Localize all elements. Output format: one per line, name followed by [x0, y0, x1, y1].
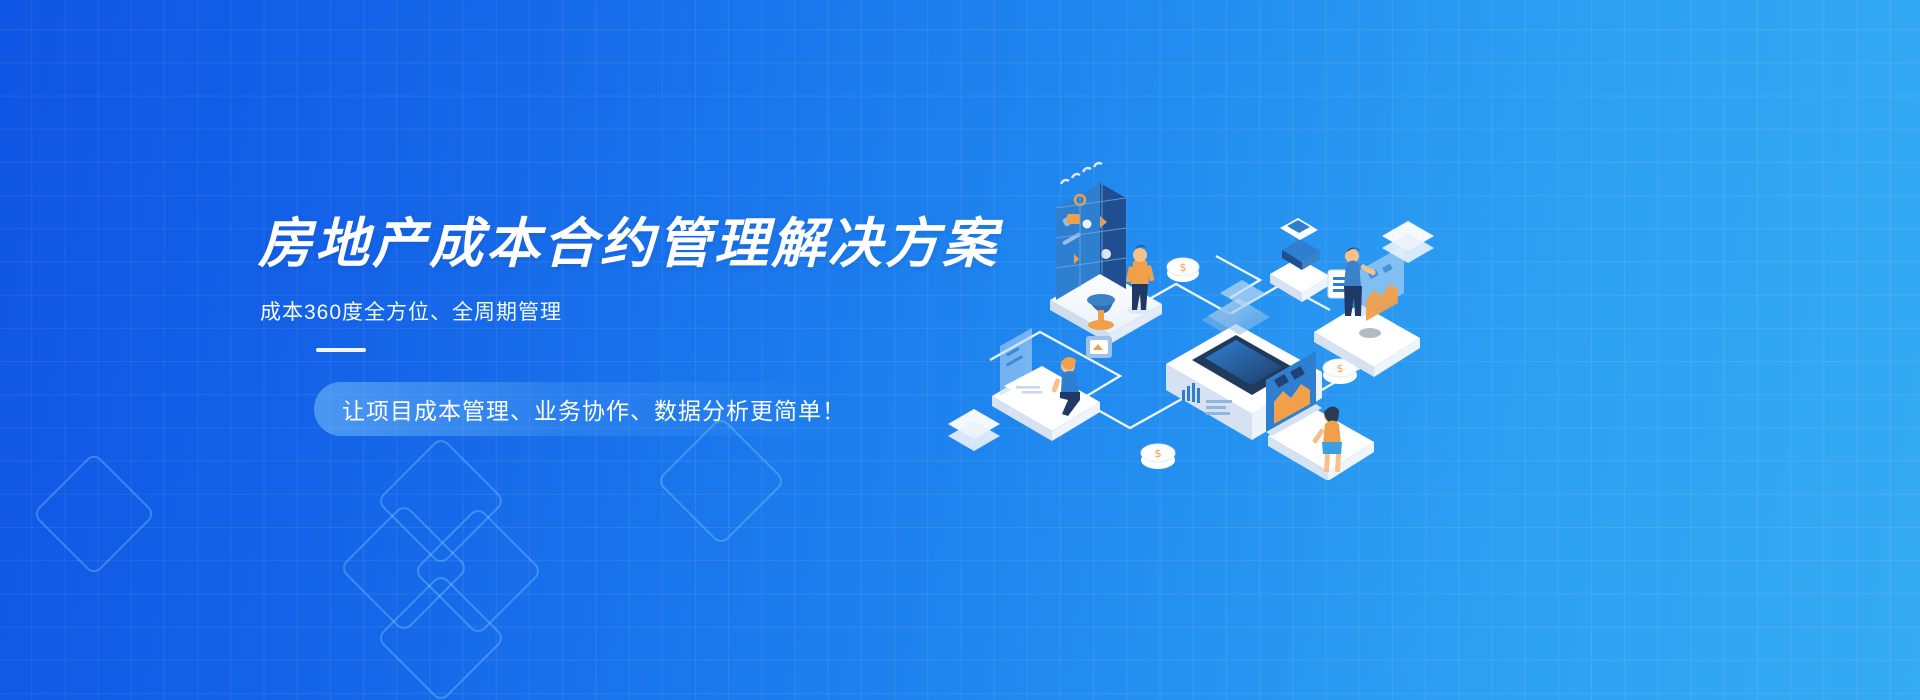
- dollar-coin-stack: $: [1141, 444, 1175, 469]
- tagline-badge: 让项目成本管理、业务协作、数据分析更简单！: [314, 382, 872, 436]
- title-divider: [316, 348, 366, 352]
- man-presenting-chart: [1314, 245, 1420, 377]
- svg-text:$: $: [1155, 447, 1162, 460]
- svg-text:$: $: [1180, 261, 1187, 274]
- woman-with-laptop: [992, 328, 1112, 441]
- hero-illustration: $ $ $: [930, 150, 1450, 480]
- page-title: 房地产成本合约管理解决方案: [258, 215, 1038, 274]
- svg-text:$: $: [1337, 362, 1344, 375]
- hero-text-block: 房地产成本合约管理解决方案 成本360度全方位、全周期管理 让项目成本管理、业务…: [258, 215, 1038, 436]
- diamond-shape: [32, 452, 156, 576]
- page-subtitle: 成本360度全方位、全周期管理: [260, 296, 1038, 326]
- hero-banner: 房地产成本合约管理解决方案 成本360度全方位、全周期管理 让项目成本管理、业务…: [0, 0, 1920, 700]
- dollar-coin-stack: $: [1167, 258, 1199, 282]
- small-platform-device: [1270, 218, 1330, 302]
- decorative-diamonds: [0, 400, 760, 700]
